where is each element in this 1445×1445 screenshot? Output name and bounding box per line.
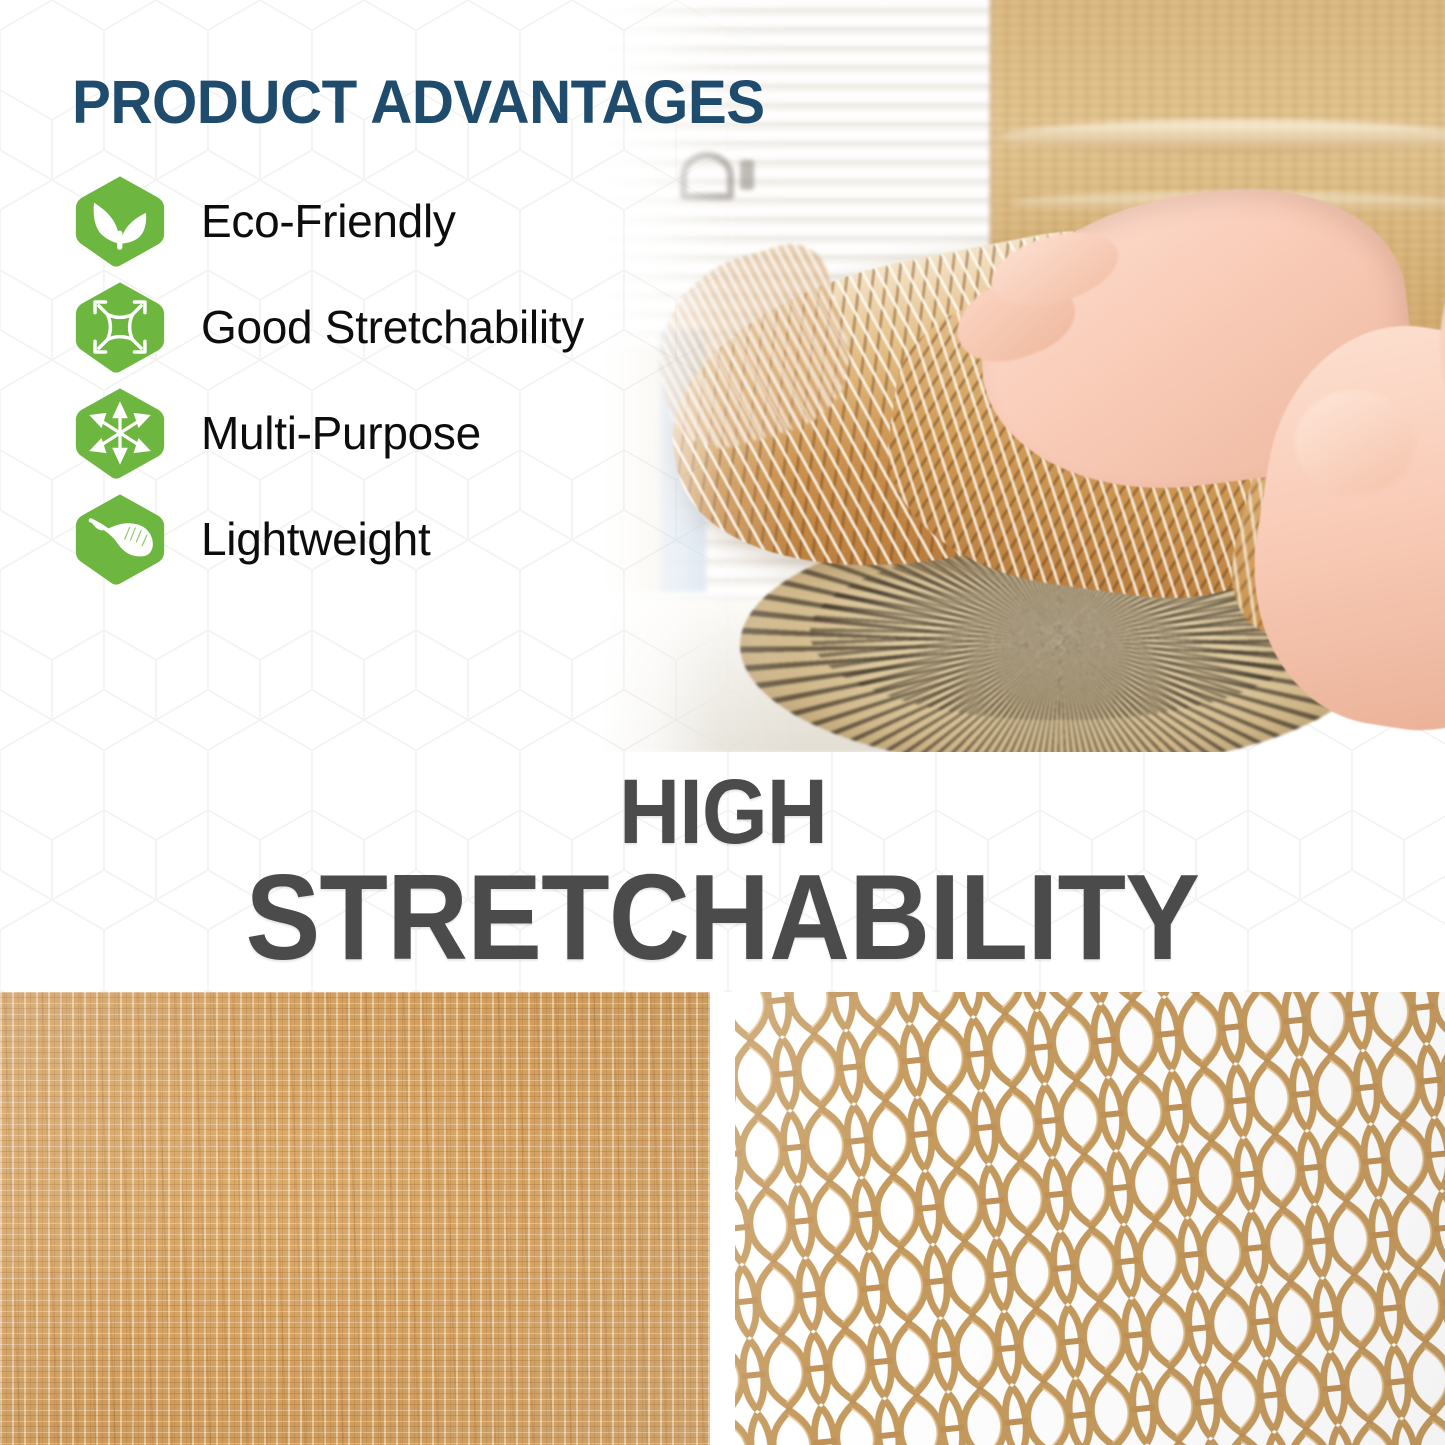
feature-label: Multi-Purpose: [201, 410, 481, 456]
feature-list: Eco-Friendly: [72, 168, 584, 592]
panel-unstretched-honeycomb-paper: [0, 992, 710, 1445]
kraft-paper-sheen: [0, 992, 710, 1445]
leaf-icon: [72, 173, 168, 269]
headline-line-2: STRETCHABILITY: [246, 860, 1200, 975]
feature-item-eco-friendly: Eco-Friendly: [72, 168, 584, 274]
panel-stretched-honeycomb-mesh: [735, 992, 1445, 1445]
feature-label: Eco-Friendly: [201, 198, 456, 244]
photo-sign-letter: [680, 152, 734, 200]
feature-item-multi-purpose: Multi-Purpose: [72, 380, 584, 486]
photo-sign-letter-2: [740, 160, 754, 190]
multi-direction-arrows-icon: [72, 385, 168, 481]
feature-item-lightweight: Lightweight: [72, 486, 584, 592]
stretch-arrows-icon: [72, 279, 168, 375]
page-title: PRODUCT ADVANTAGES: [72, 72, 765, 133]
photo-basket-rim: [1000, 120, 1445, 154]
feather-icon: [72, 491, 168, 587]
comparison-panels: [0, 992, 1445, 1445]
feature-label: Lightweight: [201, 516, 430, 562]
section-headline: HIGH STRETCHABILITY: [0, 752, 1445, 992]
feature-item-good-stretchability: Good Stretchability: [72, 274, 584, 380]
photo-knuckles: [1295, 390, 1415, 495]
top-section: PRODUCT ADVANTAGES Eco-Friendly: [0, 0, 1445, 752]
headline-line-1: HIGH: [619, 769, 827, 855]
honeycomb-mesh-texture: [735, 992, 1445, 1445]
feature-label: Good Stretchability: [201, 304, 584, 350]
infographic-root: PRODUCT ADVANTAGES Eco-Friendly: [0, 0, 1445, 1445]
